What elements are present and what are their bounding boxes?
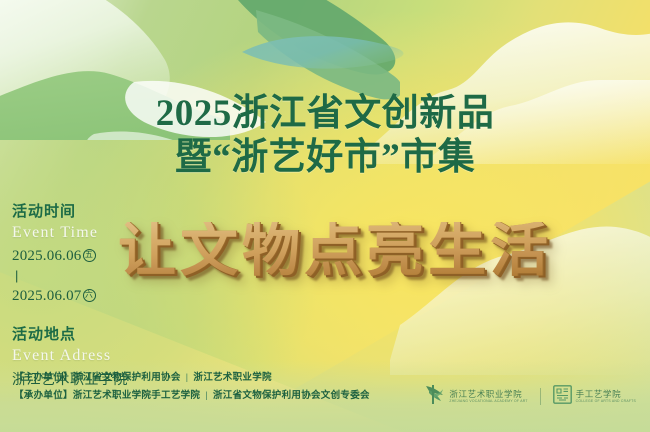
sponsor-role-0: 【主办单位】	[14, 372, 73, 383]
sponsor-line-organizer: 【主办单位】浙江省文物保护利用协会|浙江艺术职业学院	[14, 369, 370, 388]
teal-leaf-shape	[240, 26, 420, 78]
event-time-label-cn: 活动时间	[12, 203, 162, 222]
partner-logos: 浙江艺术职业学院 ZHEJIANG VOCATIONAL ACADEMY OF …	[425, 383, 636, 410]
poster-canvas: 2025浙江省文创新品 暨“浙艺好市”市集 让文物点亮生活 活动时间 Event…	[0, 0, 650, 432]
sponsor-line-host: 【承办单位】浙江艺术职业学院手工艺学院|浙江省文物保护利用协会文创专委会	[14, 387, 370, 406]
headline-line-1: 2025浙江省文创新品	[0, 92, 650, 136]
seal-logo-icon	[553, 385, 572, 409]
event-end-date: 2025.06.07六	[12, 285, 162, 308]
logo-crafts-name-en: COLLEGE OF ARTS AND CRAFTS	[576, 400, 636, 404]
sponsor-role-1: 【承办单位】	[14, 390, 73, 401]
event-address-label-cn: 活动地点	[12, 326, 162, 345]
event-start-date-text: 2025.06.06	[12, 248, 82, 264]
logo-crafts-name-cn: 手工艺学院	[576, 390, 636, 399]
date-range-separator: |	[15, 269, 162, 282]
sponsor-org1-0: 浙江省文物保护利用协会	[73, 372, 181, 383]
event-address-label-en: Event Adress	[12, 346, 162, 365]
headline-line-2: 暨“浙艺好市”市集	[0, 136, 650, 180]
poster-slogan: 让文物点亮生活	[118, 222, 552, 280]
logo-divider	[540, 388, 541, 405]
sponsor-divider-0: |	[181, 372, 194, 383]
poster-headline: 2025浙江省文创新品 暨“浙艺好市”市集	[0, 92, 650, 179]
logo-college-of-arts-and-crafts: 手工艺学院 COLLEGE OF ARTS AND CRAFTS	[553, 385, 636, 409]
sponsor-lines: 【主办单位】浙江省文物保护利用协会|浙江艺术职业学院 【承办单位】浙江艺术职业学…	[14, 369, 370, 406]
event-start-day-badge: 五	[83, 249, 96, 262]
logo-zvaa-text: 浙江艺术职业学院 ZHEJIANG VOCATIONAL ACADEMY OF …	[449, 390, 527, 404]
event-start-date: 2025.06.06五	[12, 245, 162, 268]
event-end-date-text: 2025.06.07	[12, 288, 82, 304]
bird-logo-icon	[425, 383, 445, 410]
sponsor-org1-1: 浙江艺术职业学院手工艺学院	[73, 390, 200, 401]
event-end-day-badge: 六	[83, 289, 96, 302]
sponsor-org2-1: 浙江省文物保护利用协会文创专委会	[213, 390, 370, 401]
logo-crafts-text: 手工艺学院 COLLEGE OF ARTS AND CRAFTS	[576, 390, 636, 404]
event-info-column: 活动时间 Event Time 2025.06.06五 | 2025.06.07…	[12, 203, 162, 389]
sponsor-divider-1: |	[200, 390, 213, 401]
logo-zhejiang-vocational-academy-of-art: 浙江艺术职业学院 ZHEJIANG VOCATIONAL ACADEMY OF …	[425, 383, 527, 410]
sponsor-org2-0: 浙江艺术职业学院	[193, 372, 271, 383]
logo-zvaa-name-en: ZHEJIANG VOCATIONAL ACADEMY OF ART	[449, 400, 527, 404]
event-time-label-en: Event Time	[12, 223, 162, 242]
logo-zvaa-name-cn: 浙江艺术职业学院	[449, 390, 527, 399]
event-time-block: 活动时间 Event Time 2025.06.06五 | 2025.06.07…	[12, 203, 162, 308]
